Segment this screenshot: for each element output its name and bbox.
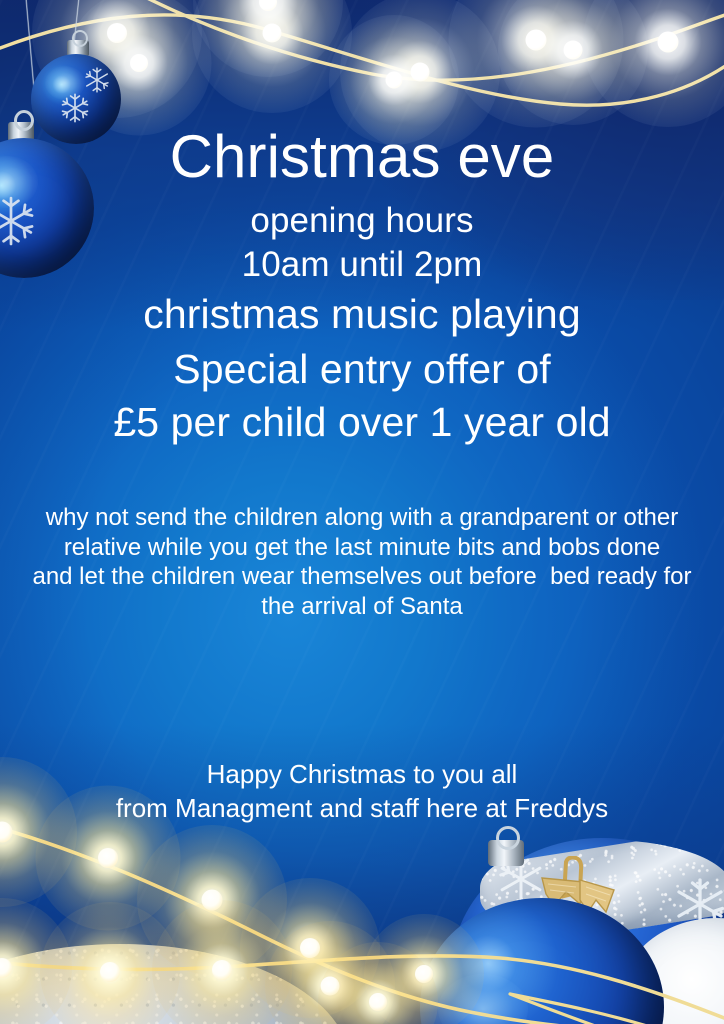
- christmas-eve-poster: Christmas eve opening hours 10am until 2…: [0, 0, 724, 1024]
- body-line: why not send the children along with a g…: [8, 503, 716, 533]
- page-title: Christmas eve: [0, 125, 724, 189]
- music-line: christmas music playing: [0, 289, 724, 339]
- signoff-line: from Managment and staff here at Freddys: [0, 791, 724, 825]
- poster-text: Christmas eve opening hours 10am until 2…: [0, 0, 724, 1024]
- body-paragraph: why not send the children along with a g…: [8, 503, 716, 621]
- body-line: the arrival of Santa: [8, 592, 716, 622]
- signoff-block: Happy Christmas to you all from Managmen…: [0, 757, 724, 825]
- opening-hours-label: opening hours: [0, 199, 724, 243]
- opening-hours-time: 10am until 2pm: [0, 243, 724, 287]
- signoff-line: Happy Christmas to you all: [0, 757, 724, 791]
- body-line: and let the children wear themselves out…: [8, 562, 716, 592]
- price-line: £5 per child over 1 year old: [0, 397, 724, 447]
- offer-line: Special entry offer of: [0, 344, 724, 394]
- body-line: relative while you get the last minute b…: [8, 533, 716, 563]
